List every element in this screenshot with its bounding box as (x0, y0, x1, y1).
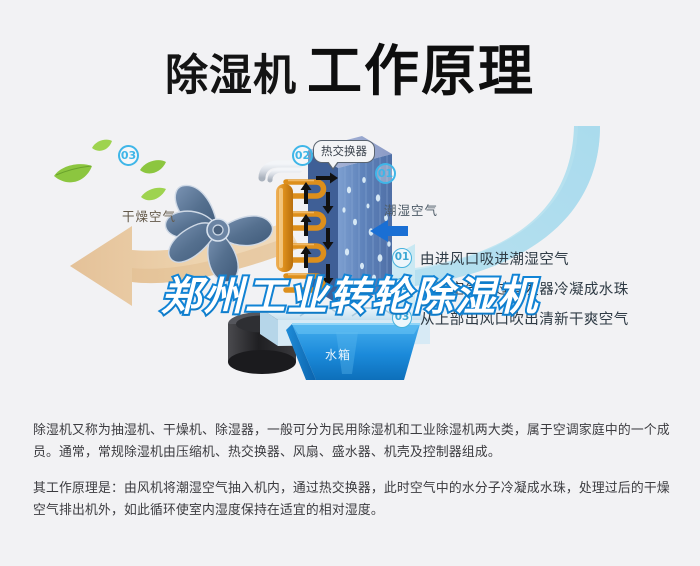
label-water-tank: 水箱 (325, 346, 351, 363)
step-number: 01 (392, 248, 412, 268)
list-item: 03 从上部出风口吹出清新干爽空气 (392, 303, 692, 333)
badge-wet-air: 01 (375, 163, 396, 184)
paragraph-definition: 除湿机又称为抽湿机、干燥机、除湿器，一般可分为民用除湿机和工业除湿机两大类，属于… (33, 420, 673, 464)
steps-list: 01 由进风口吸进潮湿空气 02 潮湿空气经过蒸发器冷凝成水珠 03 从上部出风… (392, 243, 692, 333)
leaf-icon-group (54, 140, 166, 201)
callout-heat-exchanger: 热交换器 (313, 140, 375, 163)
badge-heat-exchanger: 02 (292, 145, 313, 166)
step-text: 由进风口吸进潮湿空气 (420, 248, 569, 269)
dehumidifier-infographic: 除湿机工作原理 (0, 0, 700, 566)
step-number: 03 (392, 308, 412, 328)
label-wet-air: 潮湿空气 (384, 200, 438, 219)
page-title: 除湿机工作原理 (0, 26, 700, 106)
step-number: 02 (392, 278, 412, 298)
step-text: 从上部出风口吹出清新干爽空气 (420, 308, 629, 329)
body-copy: 除湿机又称为抽湿机、干燥机、除湿器，一般可分为民用除湿机和工业除湿机两大类，属于… (33, 420, 673, 522)
step-text: 潮湿空气经过蒸发器冷凝成水珠 (420, 278, 629, 299)
list-item: 01 由进风口吸进潮湿空气 (392, 243, 692, 273)
page-title-primary: 除湿机 (165, 51, 297, 101)
paragraph-principle: 其工作原理是：由风机将潮湿空气抽入机内，通过热交换器，此时空气中的水分子冷凝成水… (33, 478, 673, 522)
page-title-secondary: 工作原理 (307, 39, 535, 103)
label-dry-air: 干燥空气 (122, 206, 176, 225)
badge-dry-air: 03 (118, 145, 139, 166)
list-item: 02 潮湿空气经过蒸发器冷凝成水珠 (392, 273, 692, 303)
accumulator-cylinder (276, 184, 293, 272)
